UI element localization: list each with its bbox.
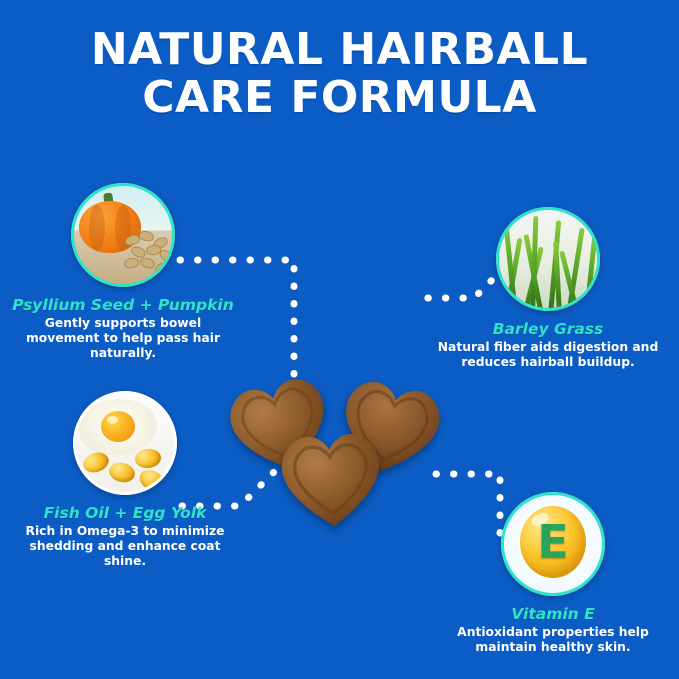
poster-canvas: NATURAL HAIRBALL CARE FORMULA: [0, 0, 679, 679]
treats-illustration: [205, 360, 475, 545]
page-title: NATURAL HAIRBALL CARE FORMULA: [0, 26, 679, 122]
heart-shaped-chew-treats: [205, 360, 475, 545]
feature-description: Antioxidant properties help maintain hea…: [437, 625, 669, 655]
feature-barley-grass[interactable]: Barley Grass Natural fiber aids digestio…: [432, 207, 664, 370]
barley-grass-icon: [496, 207, 600, 311]
title-line-1: NATURAL HAIRBALL: [0, 26, 679, 74]
feature-psyllium-pumpkin[interactable]: Psyllium Seed + Pumpkin Gently supports …: [7, 183, 239, 361]
feature-title: Barley Grass: [432, 320, 664, 338]
feature-title: Vitamin E: [437, 605, 669, 623]
vitamin-e-icon: E: [501, 492, 605, 596]
feature-title: Psyllium Seed + Pumpkin: [7, 296, 239, 314]
feature-description: Gently supports bowel movement to help p…: [7, 316, 239, 361]
pumpkin-and-seeds-icon: [71, 183, 175, 287]
egg-yolk-and-capsules-icon: [73, 391, 177, 495]
title-line-2: CARE FORMULA: [0, 74, 679, 122]
